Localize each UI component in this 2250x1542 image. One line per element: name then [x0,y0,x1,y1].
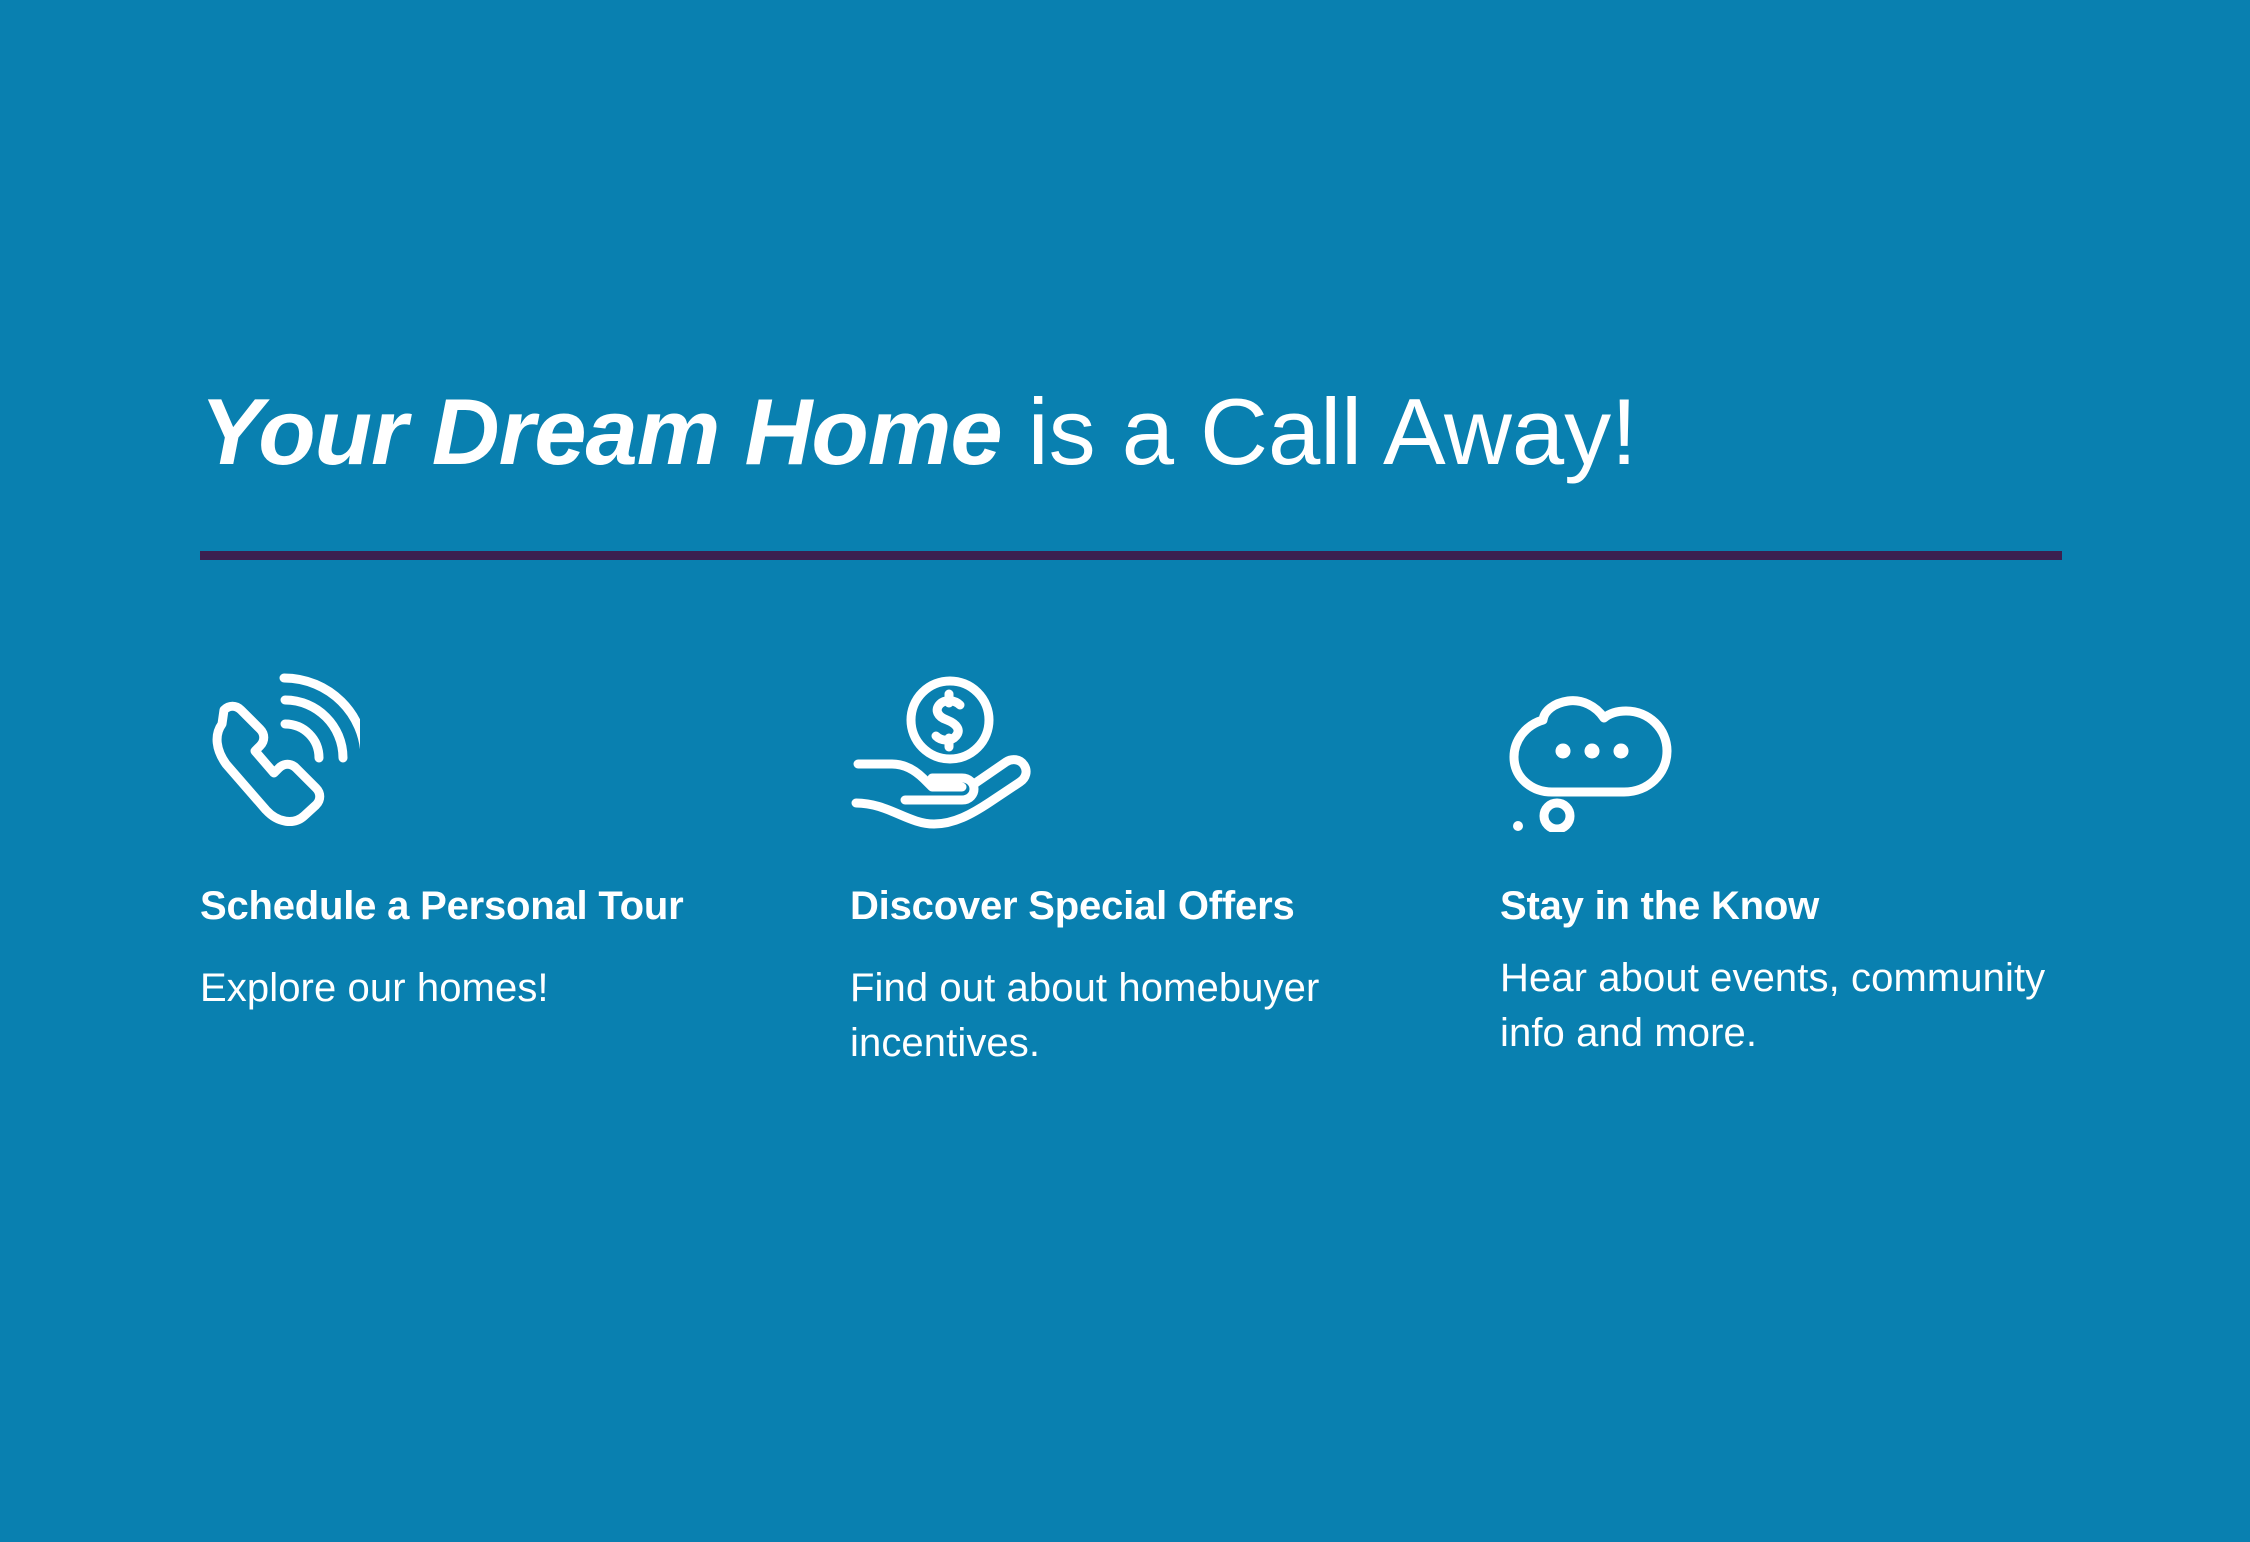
phone-ringing-icon [200,652,360,852]
feature-body: Hear about events, community info and mo… [1500,951,2060,1061]
headline-rest: is a Call Away! [1002,379,1638,484]
feature-column-special-offers: Discover Special Offers Find out about h… [850,652,1500,1071]
divider [200,551,2062,560]
feature-heading: Discover Special Offers [850,880,1295,933]
feature-body: Find out about homebuyer incentives. [850,961,1410,1071]
feature-body: Explore our homes! [200,961,549,1016]
headline-emphasis: Your Dream Home [200,379,1002,484]
promo-poster: Your Dream Home is a Call Away! Schedule… [0,0,2250,1542]
feature-column-stay-in-know: Stay in the Know Hear about events, comm… [1500,652,2100,1061]
hand-holding-coin-icon [850,652,1035,852]
page-title: Your Dream Home is a Call Away! [200,381,2100,483]
feature-column-schedule-tour: Schedule a Personal Tour Explore our hom… [200,652,850,1016]
feature-columns: Schedule a Personal Tour Explore our hom… [200,652,2100,1071]
feature-heading: Stay in the Know [1500,880,1819,933]
thought-bubble-icon [1500,652,1680,852]
feature-heading: Schedule a Personal Tour [200,880,683,933]
